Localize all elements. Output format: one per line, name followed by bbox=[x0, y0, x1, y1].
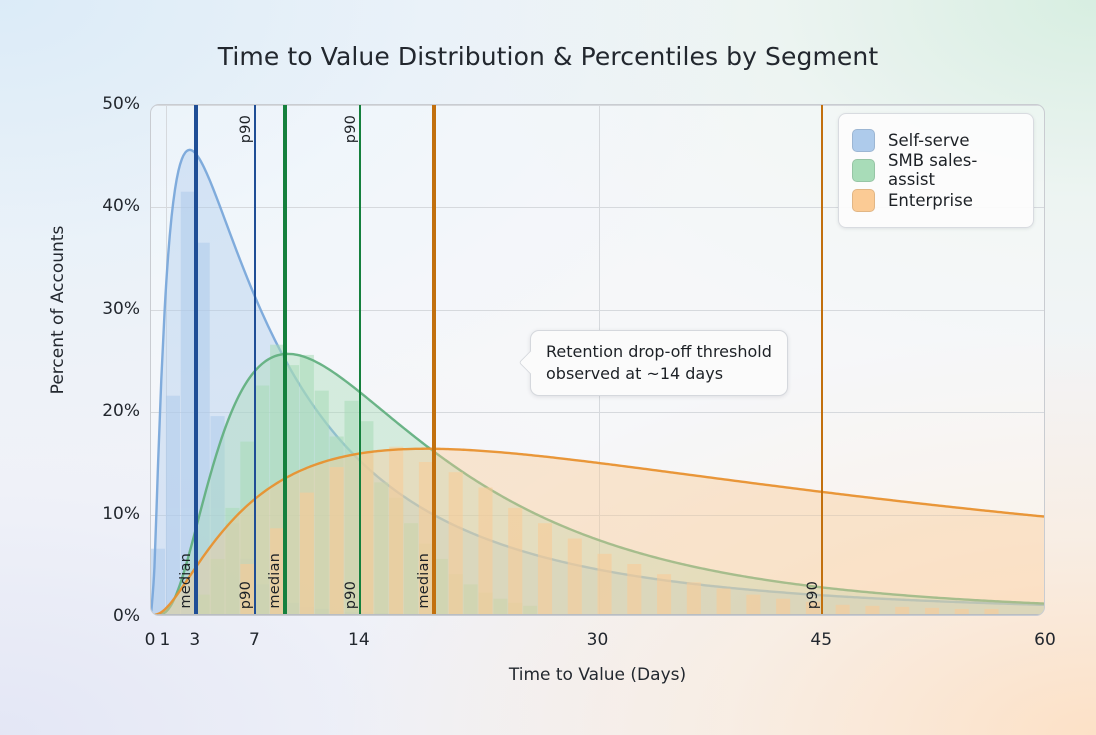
legend-label-self-serve: Self-serve bbox=[888, 131, 970, 150]
reference-line-label-selfserve-median: median bbox=[178, 553, 194, 609]
axis-baseline bbox=[151, 614, 1044, 615]
legend-swatch-enterprise bbox=[852, 189, 875, 212]
reference-line-top-label-selfserve-p90: p90 bbox=[238, 115, 254, 143]
page-title: Time to Value Distribution & Percentiles… bbox=[0, 42, 1096, 71]
reference-line-label-smb-p90: p90 bbox=[343, 581, 359, 609]
reference-line-label-smb-median: median bbox=[267, 553, 283, 609]
x-tick-label: 1 bbox=[159, 630, 170, 650]
legend-item-enterprise[interactable]: Enterprise bbox=[852, 185, 1019, 215]
x-axis-title: Time to Value (Days) bbox=[150, 665, 1045, 685]
y-tick-label: 50% bbox=[70, 94, 140, 114]
y-tick-label: 40% bbox=[70, 196, 140, 216]
x-tick-label: 45 bbox=[810, 630, 832, 650]
reference-line-stem bbox=[432, 105, 436, 615]
x-tick-label: 14 bbox=[348, 630, 370, 650]
x-tick-label: 0 bbox=[145, 630, 156, 650]
legend-item-smb-sales-assist[interactable]: SMB sales-assist bbox=[852, 155, 1019, 185]
y-tick-label: 20% bbox=[70, 401, 140, 421]
chart-page: Time to Value Distribution & Percentiles… bbox=[0, 0, 1096, 735]
x-tick-label: 60 bbox=[1034, 630, 1056, 650]
reference-line-selfserve-p90 bbox=[254, 105, 256, 615]
y-axis-ticks: 0%10%20%30%40%50% bbox=[62, 0, 140, 735]
legend-swatch-self-serve bbox=[852, 129, 875, 152]
reference-line-stem bbox=[254, 105, 256, 615]
reference-line-smb-median bbox=[283, 105, 287, 615]
reference-line-top-label-smb-p90: p90 bbox=[343, 115, 359, 143]
y-tick-label: 30% bbox=[70, 299, 140, 319]
legend[interactable]: Self-serve SMB sales-assist Enterprise bbox=[838, 113, 1034, 228]
reference-line-stem bbox=[821, 105, 823, 615]
callout-line-2: observed at ~14 days bbox=[546, 363, 772, 385]
x-tick-label: 3 bbox=[189, 630, 200, 650]
reference-line-label-selfserve-p90: p90 bbox=[238, 581, 254, 609]
reference-line-selfserve-median bbox=[194, 105, 198, 615]
reference-line-label-enterprise-p90: p90 bbox=[805, 581, 821, 609]
reference-line-enterprise-p90 bbox=[821, 105, 823, 615]
reference-line-stem bbox=[194, 105, 198, 615]
reference-line-enterprise-median bbox=[432, 105, 436, 615]
reference-line-stem bbox=[283, 105, 287, 615]
x-tick-label: 7 bbox=[249, 630, 260, 650]
reference-line-smb-p90 bbox=[359, 105, 361, 615]
x-tick-label: 30 bbox=[587, 630, 609, 650]
legend-label-enterprise: Enterprise bbox=[888, 191, 973, 210]
legend-label-smb-sales-assist: SMB sales-assist bbox=[888, 151, 1019, 189]
callout-line-1: Retention drop-off threshold bbox=[546, 341, 772, 363]
reference-line-label-enterprise-median: median bbox=[416, 553, 432, 609]
reference-line-stem bbox=[359, 105, 361, 615]
y-tick-label: 0% bbox=[70, 606, 140, 626]
y-tick-label: 10% bbox=[70, 504, 140, 524]
legend-swatch-smb-sales-assist bbox=[852, 159, 875, 182]
annotation-callout: Retention drop-off threshold observed at… bbox=[530, 330, 788, 396]
